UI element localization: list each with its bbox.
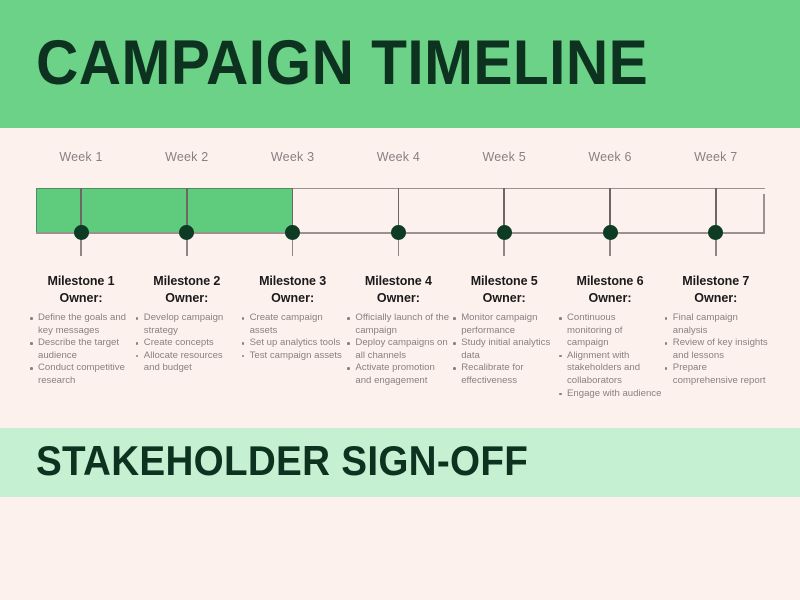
poster-canvas: CAMPAIGN TIMELINE Week 1Week 2Week 3Week… [0,0,800,600]
milestone-columns: Milestone 1Owner:Define the goals and ke… [36,273,776,418]
list-item: Alignment with stakeholders and collabor… [558,350,662,388]
week-label-4: Week 4 [353,150,443,164]
week-label-5: Week 5 [459,150,549,164]
list-item: Set up analytics tools [241,337,345,350]
week-label-6: Week 6 [565,150,655,164]
list-item: Engage with audience [558,388,662,401]
milestone-owner-label: Owner: [135,290,239,307]
milestone-column-5: Milestone 5Owner:Monitor campaign perfor… [452,273,556,388]
milestone-title: Milestone 3 [241,273,345,290]
milestone-column-2: Milestone 2Owner:Develop campaign strate… [135,273,239,375]
list-item: Final campaign analysis [664,312,768,337]
axis-end-cap [763,194,765,234]
list-item: Define the goals and key messages [29,312,133,337]
list-item: Prepare comprehensive report [664,362,768,387]
milestone-title: Milestone 6 [558,273,662,290]
timeline-axis [36,188,765,234]
milestone-title: Milestone 2 [135,273,239,290]
milestone-dot-7[interactable] [708,225,723,240]
week-label-3: Week 3 [248,150,338,164]
milestone-task-list: Monitor campaign performanceStudy initia… [452,312,556,388]
page-title: CAMPAIGN TIMELINE [36,29,648,97]
list-item: Develop campaign strategy [135,312,239,337]
list-item: Monitor campaign performance [452,312,556,337]
milestone-title: Milestone 4 [346,273,450,290]
milestone-owner-label: Owner: [664,290,768,307]
list-item: Deploy campaigns on all channels [346,337,450,362]
milestone-dot-5[interactable] [497,225,512,240]
milestone-dot-1[interactable] [74,225,89,240]
milestone-dot-2[interactable] [179,225,194,240]
milestone-column-1: Milestone 1Owner:Define the goals and ke… [29,273,133,388]
milestone-dot-4[interactable] [391,225,406,240]
list-item: Create campaign assets [241,312,345,337]
milestone-task-list: Officially launch of the campaignDeploy … [346,312,450,388]
list-item: Continuous monitoring of campaign [558,312,662,350]
milestone-dot-6[interactable] [603,225,618,240]
milestone-owner-label: Owner: [346,290,450,307]
week-label-7: Week 7 [671,150,761,164]
week-label-1: Week 1 [36,150,126,164]
list-item: Study initial analytics data [452,337,556,362]
milestone-column-4: Milestone 4Owner:Officially launch of th… [346,273,450,388]
list-item: Describe the target audience [29,337,133,362]
list-item: Allocate resources and budget [135,350,239,375]
milestone-title: Milestone 7 [664,273,768,290]
list-item: Create concepts [135,337,239,350]
timeline-section: Week 1Week 2Week 3Week 4Week 5Week 6Week… [0,128,800,428]
milestone-column-3: Milestone 3Owner:Create campaign assetsS… [241,273,345,362]
list-item: Activate promotion and engagement [346,362,450,387]
header-band: CAMPAIGN TIMELINE [0,0,800,128]
week-label-row: Week 1Week 2Week 3Week 4Week 5Week 6Week… [36,150,765,170]
list-item: Test campaign assets [241,350,345,363]
progress-fill [36,188,293,233]
milestone-task-list: Continuous monitoring of campaignAlignme… [558,312,662,400]
milestone-dot-3[interactable] [285,225,300,240]
milestone-title: Milestone 5 [452,273,556,290]
milestone-owner-label: Owner: [558,290,662,307]
milestone-task-list: Develop campaign strategyCreate concepts… [135,312,239,375]
milestone-task-list: Define the goals and key messagesDescrib… [29,312,133,388]
milestone-owner-label: Owner: [241,290,345,307]
milestone-task-list: Final campaign analysisReview of key ins… [664,312,768,388]
list-item: Officially launch of the campaign [346,312,450,337]
milestone-task-list: Create campaign assetsSet up analytics t… [241,312,345,362]
list-item: Recalibrate for effectiveness [452,362,556,387]
footer-title: STAKEHOLDER SIGN-OFF [36,437,528,485]
week-label-2: Week 2 [142,150,232,164]
milestone-column-6: Milestone 6Owner:Continuous monitoring o… [558,273,662,400]
footer-band: STAKEHOLDER SIGN-OFF [0,428,800,497]
milestone-title: Milestone 1 [29,273,133,290]
list-item: Review of key insights and lessons [664,337,768,362]
list-item: Conduct competitive research [29,362,133,387]
milestone-owner-label: Owner: [452,290,556,307]
milestone-column-7: Milestone 7Owner:Final campaign analysis… [664,273,768,388]
milestone-owner-label: Owner: [29,290,133,307]
